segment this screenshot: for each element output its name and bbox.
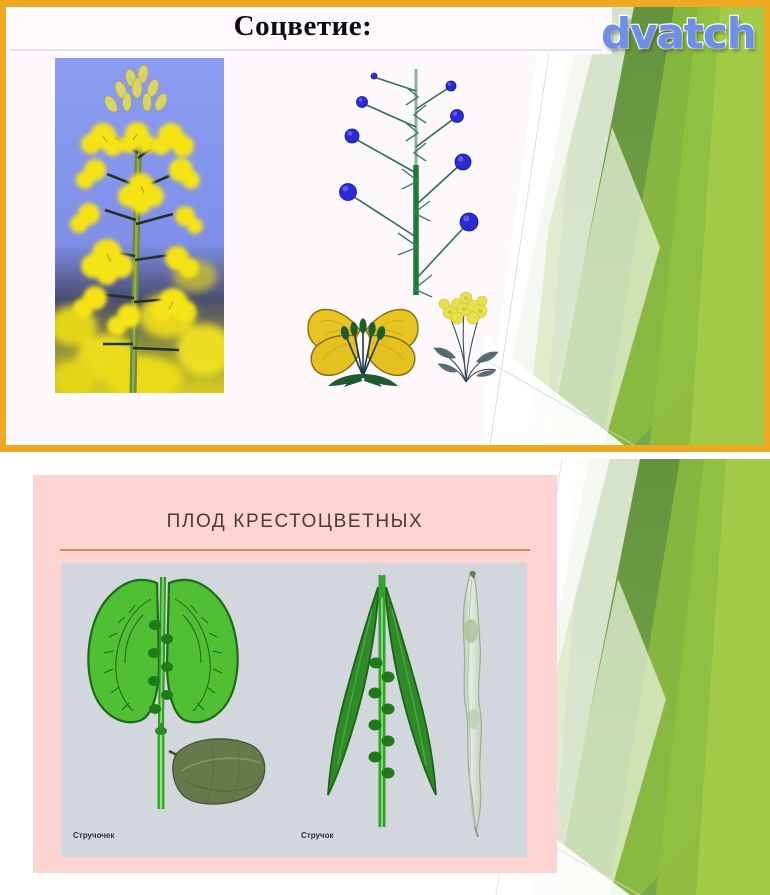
fruit-figure-area: Стручочек Стручок (61, 563, 527, 857)
crucifer-flower-illustration (298, 282, 428, 387)
slide-1-title-bar: Соцветие: (6, 7, 612, 54)
caption-silique: Стручок (301, 831, 333, 840)
green-facet-decoration-1 (484, 7, 764, 445)
silique-photo (446, 569, 501, 837)
silicle-diagram (81, 571, 271, 821)
raceme-diagram (336, 65, 496, 300)
presentation-screenshot: Соцветие: (0, 0, 770, 895)
slide-1-border-top (0, 0, 770, 7)
watermark-dvatch: dvatch (601, 9, 756, 58)
silique-diagram (316, 569, 446, 839)
fruit-panel: ПЛОД КРЕСТОЦВЕТНЫХ (33, 475, 557, 873)
slide-1-border-right (764, 0, 770, 452)
slide-2: ПЛОД КРЕСТОЦВЕТНЫХ (0, 459, 770, 895)
silicle-photo (169, 739, 265, 804)
fruit-title-rule (60, 549, 530, 551)
slide-1: Соцветие: (0, 0, 770, 452)
rapeseed-inflorescence-photo (55, 58, 224, 393)
caption-silicle: Стручочек (73, 831, 114, 840)
fruit-panel-title: ПЛОД КРЕСТОЦВЕТНЫХ (33, 511, 557, 533)
slide-1-canvas: Соцветие: (6, 7, 764, 445)
title-underline-rule (10, 49, 602, 51)
slide-1-border-bottom (0, 445, 770, 452)
small-inflorescence-sketch (426, 282, 506, 387)
page-title: Соцветие: (6, 10, 600, 43)
